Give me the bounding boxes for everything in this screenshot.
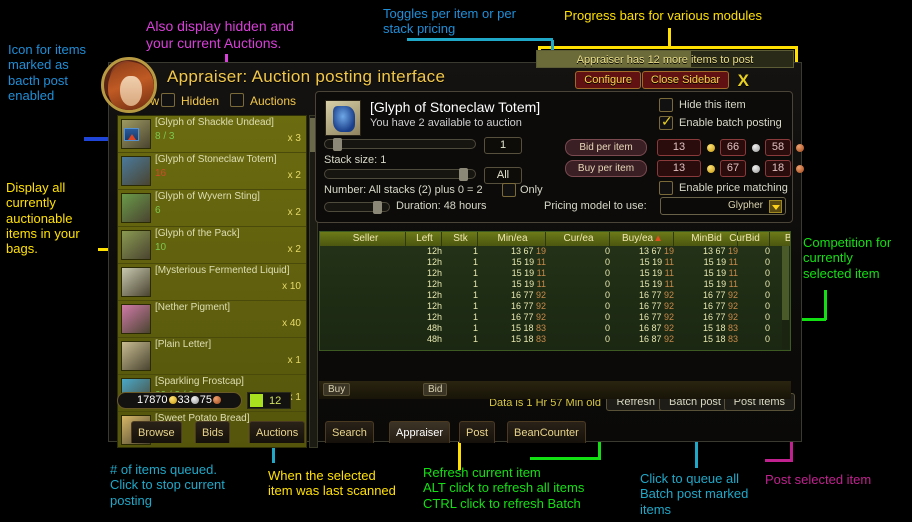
stack-count-value[interactable]: All	[484, 167, 522, 184]
stack-count-slider[interactable]	[324, 169, 476, 179]
pricing-model-dropdown[interactable]: Glypher	[660, 197, 786, 215]
annotation-batch-help: Click to queue all Batch post marked ite…	[640, 471, 748, 517]
annotation-display-all: Display all currently auctionable items …	[6, 180, 80, 257]
chevron-down-icon[interactable]	[769, 200, 782, 213]
table-row[interactable]: 12h115 19 11015 19 1115 19 11015 19	[320, 257, 790, 268]
hide-this-item-label: Hide this item	[679, 99, 746, 111]
table-row[interactable]: 12h113 67 19013 67 1913 67 19013 67 1	[320, 246, 790, 257]
table-cell-buyea: 15 19 11	[612, 268, 674, 279]
table-cell-buyea: 16 77 92	[612, 301, 674, 312]
annotation-leader-refresh-h	[530, 457, 600, 460]
character-portrait	[101, 57, 157, 113]
table-cell-left: 12h	[408, 301, 442, 312]
annotation-progress-bars: Progress bars for various modules	[564, 8, 762, 23]
table-cell-stk: 1	[444, 290, 478, 301]
table-row[interactable]: 48h115 18 83016 87 9215 18 83016 87 9	[320, 323, 790, 334]
table-cell-buyea: 16 87 92	[612, 323, 674, 334]
stack-count-slider-knob[interactable]	[459, 168, 468, 181]
item-quantity: x 2	[288, 170, 301, 181]
table-cell-minea: 15 18 83	[480, 323, 546, 334]
auctions-label: Auctions	[250, 94, 296, 108]
close-sidebar-button[interactable]: Close Sidebar	[642, 71, 729, 89]
table-cell-minea: 16 77 92	[480, 301, 546, 312]
stack-size-slider-knob[interactable]	[333, 138, 342, 151]
bid-gold-field[interactable]: 13	[657, 139, 701, 156]
annotation-leader-competition-v	[824, 290, 827, 320]
silver-coin-icon	[191, 396, 199, 404]
item-icon	[325, 100, 361, 136]
table-cell-minea: 15 19 11	[480, 257, 546, 268]
table-cell-curbid: 0	[720, 301, 770, 312]
buy-per-item-toggle[interactable]: Buy per item	[565, 160, 647, 177]
portrait-face	[120, 76, 142, 106]
silver-amount: 33	[178, 394, 190, 406]
bid-silver-coin-icon	[752, 144, 760, 152]
table-cell-stk: 1	[444, 312, 478, 323]
table-cell-curea: 0	[548, 290, 610, 301]
table-cell-stk: 1	[444, 246, 478, 257]
annotation-batch-icon: Icon for items marked as bacth post enab…	[8, 42, 86, 103]
bid-copper-coin-icon	[796, 144, 804, 152]
table-cell-left: 12h	[408, 246, 442, 257]
table-cell-buyea: 13 67 19	[612, 246, 674, 257]
table-cell-buyea: 15 19 11	[612, 257, 674, 268]
only-label: Only	[520, 184, 543, 196]
table-cell-curbid: 0	[720, 268, 770, 279]
table-cell-curbid: 0	[720, 279, 770, 290]
stack-size-slider[interactable]	[324, 139, 476, 149]
item-name: [Glyph of the Pack]	[155, 228, 240, 239]
item-level: 6	[155, 205, 161, 216]
enable-batch-posting-label: Enable batch posting	[679, 117, 782, 129]
stack-size-value[interactable]: 1	[484, 137, 522, 154]
buy-copper-coin-icon	[796, 165, 804, 173]
list-item[interactable]: [Plain Letter]x 1	[118, 338, 306, 375]
table-cell-minea: 15 19 11	[480, 268, 546, 279]
table-cell-buyea: 15 19 11	[612, 279, 674, 290]
buy-bid-bar: Buy Bid	[319, 381, 791, 399]
annotation-per-item: Toggles per item or per stack pricing	[383, 6, 516, 37]
tab-browse[interactable]: Browse	[131, 421, 182, 443]
table-cell-stk: 1	[444, 268, 478, 279]
number-summary-label: Number: All stacks (2) plus 0 = 2	[324, 184, 483, 196]
table-cell-minea: 15 18 83	[480, 334, 546, 345]
table-cell-buyea: 16 87 92	[612, 334, 674, 345]
table-cell-curea: 0	[548, 312, 610, 323]
table-cell-curea: 0	[548, 246, 610, 257]
copper-amount: 75	[200, 394, 212, 406]
table-cell-curea: 0	[548, 279, 610, 290]
duration-slider-knob[interactable]	[373, 201, 382, 214]
annotation-leader-progress	[668, 28, 671, 48]
table-cell-minea: 16 77 92	[480, 312, 546, 323]
buy-silver-coin-icon	[752, 165, 760, 173]
progress-bar: Appraiser has 12 more items to post	[536, 50, 794, 68]
table-cell-minea: 13 67 19	[480, 246, 546, 257]
item-quantity: x 10	[282, 281, 301, 292]
table-row[interactable]: 12h115 19 11015 19 1115 19 11015 19	[320, 279, 790, 290]
table-cell-stk: 1	[444, 334, 478, 345]
buy-copper-field[interactable]: 18	[765, 160, 791, 177]
item-quantity: x 2	[288, 244, 301, 255]
table-cell-curbid: 0	[720, 257, 770, 268]
list-item[interactable]: [Glyph of Shackle Undead]8 / 3x 3	[118, 116, 306, 153]
annotation-leader-peritem-h	[407, 38, 553, 41]
gold-coin-icon	[169, 396, 177, 404]
only-checkbox[interactable]	[502, 183, 516, 197]
close-icon[interactable]: X	[730, 69, 757, 93]
table-cell-stk: 1	[444, 323, 478, 334]
table-row[interactable]: 12h116 77 92016 77 9216 77 92016 77 9	[320, 312, 790, 323]
table-cell-stk: 1	[444, 279, 478, 290]
table-cell-left: 12h	[408, 312, 442, 323]
auctions-checkbox[interactable]	[230, 93, 244, 107]
sort-arrow-icon: ▲	[653, 233, 663, 244]
list-item[interactable]: [Nether Pigment]x 40	[118, 301, 306, 338]
bid-gold-coin-icon	[707, 144, 715, 152]
annotation-last-scanned: When the selected item was last scanned	[268, 468, 396, 499]
table-column-header[interactable]: Seller	[326, 232, 406, 246]
table-row[interactable]: 12h116 77 92016 77 9216 77 92016 77 9	[320, 301, 790, 312]
selected-item-availability: You have 2 available to auction	[370, 117, 522, 129]
auction-house-window: Appraiser: Auction posting interface App…	[108, 62, 802, 442]
item-quantity: x 3	[288, 133, 301, 144]
duration-label: Duration: 48 hours	[396, 200, 487, 212]
list-item[interactable]: [Glyph of Stoneclaw Totem]16x 2	[118, 153, 306, 190]
item-icon	[121, 341, 151, 371]
bid-button[interactable]: Bid	[423, 383, 447, 396]
item-icon	[121, 304, 151, 334]
item-icon	[121, 156, 151, 186]
table-column-header[interactable]: Min/ea	[480, 232, 546, 246]
table-cell-stk: 1	[444, 301, 478, 312]
buy-gold-coin-icon	[707, 165, 715, 173]
item-quantity: x 2	[288, 207, 301, 218]
table-cell-left: 12h	[408, 279, 442, 290]
table-cell-left: 12h	[408, 257, 442, 268]
table-cell-minea: 16 77 92	[480, 290, 546, 301]
annotation-leader-postitems-h	[765, 459, 793, 462]
table-cell-curea: 0	[548, 268, 610, 279]
table-cell-curbid: 0	[720, 334, 770, 345]
bid-per-item-toggle[interactable]: Bid per item	[565, 139, 647, 156]
annotation-refresh-help: Refresh current item ALT click to refres…	[423, 465, 584, 511]
enable-price-matching-label: Enable price matching	[679, 182, 788, 194]
buy-silver-field[interactable]: 67	[720, 160, 746, 177]
page-title: Appraiser: Auction posting interface	[167, 67, 445, 87]
detail-panel: [Glyph of Stoneclaw Totem] You have 2 av…	[315, 91, 793, 449]
enable-batch-posting-checkbox[interactable]	[659, 116, 673, 130]
table-cell-curea: 0	[548, 323, 610, 334]
item-name: [Plain Letter]	[155, 339, 211, 350]
list-item[interactable]: [Mysterious Fermented Liquid]x 10	[118, 264, 306, 301]
table-header-row: SellerLeftStkMin/eaCur/eaBuy/ea▲MinBidCu…	[320, 232, 790, 246]
item-level: 16	[155, 168, 166, 179]
buy-gold-field[interactable]: 13	[657, 160, 701, 177]
pricing-model-value: Glypher	[728, 200, 763, 211]
table-cell-left: 12h	[408, 290, 442, 301]
list-item[interactable]: [Glyph of the Pack]10x 2	[118, 227, 306, 264]
table-cell-buyea: 16 77 92	[612, 290, 674, 301]
item-name: [Glyph of Stoneclaw Totem]	[155, 154, 277, 165]
enable-price-matching-checkbox[interactable]	[659, 181, 673, 195]
tab-auctions[interactable]: Auctions	[249, 421, 305, 443]
table-cell-curea: 0	[548, 257, 610, 268]
pricing-model-label: Pricing model to use:	[544, 200, 647, 212]
item-icon	[121, 267, 151, 297]
configure-button[interactable]: Configure	[575, 71, 641, 89]
annotation-hidden-auctions: Also display hidden and your current Auc…	[146, 18, 294, 51]
table-cell-curbid: 0	[720, 312, 770, 323]
item-name: [Sparkling Frostcap]	[155, 376, 244, 387]
table-cell-curea: 0	[548, 334, 610, 345]
table-cell-stk: 1	[444, 257, 478, 268]
table-scrollbar[interactable]	[782, 246, 789, 349]
annotation-queued: # of items queued. Click to stop current…	[110, 462, 225, 508]
table-cell-curbid: 0	[720, 246, 770, 257]
table-cell-left: 12h	[408, 268, 442, 279]
table-column-header[interactable]: Left	[408, 232, 442, 246]
batch-post-icon	[124, 128, 139, 141]
table-body[interactable]: 12h113 67 19013 67 1913 67 19013 67 112h…	[320, 246, 790, 345]
annotation-competition: Competition for currently selected item	[803, 235, 891, 281]
table-cell-left: 48h	[408, 334, 442, 345]
progress-bar-label: Appraiser has 12 more items to post	[537, 51, 793, 67]
table-cell-buyea: 16 77 92	[612, 312, 674, 323]
bid-silver-field[interactable]: 66	[720, 139, 746, 156]
table-row[interactable]: 12h115 19 11015 19 1115 19 11015 19	[320, 268, 790, 279]
queue-counter[interactable]: 12	[247, 392, 291, 409]
table-cell-left: 48h	[408, 323, 442, 334]
item-name: [Nether Pigment]	[155, 302, 230, 313]
stack-size-label: Stack size: 1	[324, 154, 386, 166]
annotation-post-help: Post selected item	[765, 472, 871, 487]
table-column-header[interactable]: Stk	[444, 232, 478, 246]
table-cell-curbid: 0	[720, 323, 770, 334]
copper-coin-icon	[213, 396, 221, 404]
competition-table[interactable]: SellerLeftStkMin/eaCur/eaBuy/ea▲MinBidCu…	[319, 231, 791, 351]
table-cell-minea: 15 19 11	[480, 279, 546, 290]
table-row[interactable]: 48h115 18 83016 87 9215 18 83016 87 9	[320, 334, 790, 345]
table-column-header[interactable]: Buy/ea▲	[612, 232, 674, 246]
item-level: 8 / 3	[155, 131, 174, 142]
item-icon	[121, 193, 151, 223]
item-level: 10	[155, 242, 166, 253]
list-item[interactable]: [Glyph of Wyvern Sting]6x 2	[118, 190, 306, 227]
buy-button[interactable]: Buy	[323, 383, 350, 396]
queue-count-label: 12	[269, 395, 281, 407]
table-column-header[interactable]: CurBid	[720, 232, 770, 246]
table-column-header[interactable]: Buyout	[772, 232, 791, 246]
table-scroll-thumb[interactable]	[782, 246, 789, 320]
gold-amount: 17870	[137, 394, 168, 406]
queue-status-icon[interactable]	[250, 394, 263, 407]
item-name: [Mysterious Fermented Liquid]	[155, 265, 290, 276]
item-quantity: x 1	[288, 355, 301, 366]
table-row[interactable]: 12h116 77 92016 77 9216 77 92016 77 9	[320, 290, 790, 301]
item-name: [Glyph of Shackle Undead]	[155, 117, 274, 128]
hidden-label: Hidden	[181, 94, 219, 108]
item-icon	[121, 230, 151, 260]
hidden-checkbox[interactable]	[161, 93, 175, 107]
hide-this-item-checkbox[interactable]	[659, 98, 673, 112]
item-detail-panel: [Glyph of Stoneclaw Totem] You have 2 av…	[315, 91, 793, 223]
item-quantity: x 40	[282, 318, 301, 329]
money-display: 178703375	[117, 392, 242, 409]
bid-copper-field[interactable]: 58	[765, 139, 791, 156]
item-name: [Glyph of Wyvern Sting]	[155, 191, 260, 202]
table-cell-curea: 0	[548, 301, 610, 312]
duration-slider[interactable]	[324, 202, 390, 212]
table-cell-curbid: 0	[720, 290, 770, 301]
tab-bids[interactable]: Bids	[195, 421, 230, 443]
table-column-header[interactable]: Cur/ea	[548, 232, 610, 246]
selected-item-name: [Glyph of Stoneclaw Totem]	[370, 99, 540, 115]
